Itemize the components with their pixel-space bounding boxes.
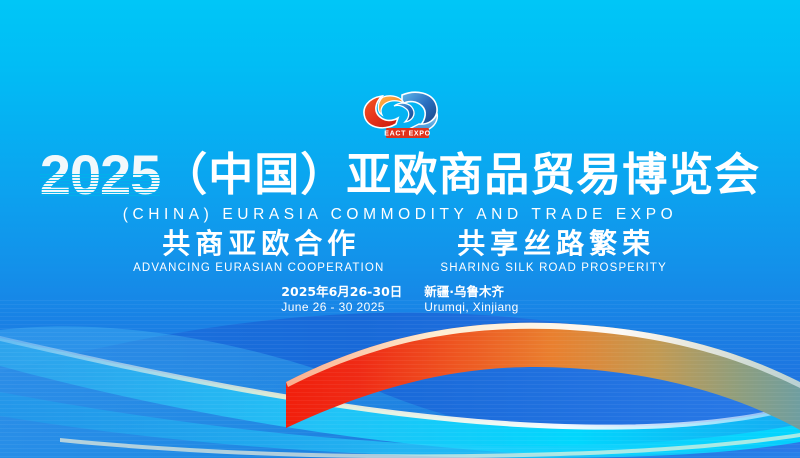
event-venue: 新疆·乌鲁木齐 Urumqi, Xinjiang — [424, 284, 518, 315]
scanline-texture — [0, 300, 800, 458]
event-venue-english: Urumqi, Xinjiang — [424, 300, 518, 315]
title-year: 2025 — [40, 148, 161, 202]
event-date: 2025年6月26-30日 June 26 - 30 2025 — [281, 284, 402, 315]
slogan-1-chinese: 共商亚欧合作 — [133, 228, 384, 260]
expo-banner: EACT EXPO 2025 （中国）亚欧商品贸易博览会 (CHINA) EUR… — [0, 0, 800, 458]
slogan-item-1: 共商亚欧合作 ADVANCING EURASIAN COOPERATION — [133, 228, 384, 274]
title-english: (CHINA) EURASIA COMMODITY AND TRADE EXPO — [0, 206, 800, 224]
slogan-group: 共商亚欧合作 ADVANCING EURASIAN COOPERATION 共享… — [0, 228, 800, 274]
title-block: 2025 （中国）亚欧商品贸易博览会 (CHINA) EURASIA COMMO… — [0, 148, 800, 224]
logo-wordmark-text: EACT EXPO — [384, 130, 430, 138]
event-venue-chinese: 新疆·乌鲁木齐 — [424, 284, 518, 300]
slogan-item-2: 共享丝路繁荣 SHARING SILK ROAD PROSPERITY — [440, 228, 666, 274]
eact-expo-logo: EACT EXPO — [356, 86, 444, 142]
event-meta: 2025年6月26-30日 June 26 - 30 2025 新疆·乌鲁木齐 … — [0, 284, 800, 315]
logo-mark: EACT EXPO — [356, 86, 444, 142]
title-main-row: 2025 （中国）亚欧商品贸易博览会 — [0, 148, 800, 202]
slogan-2-english: SHARING SILK ROAD PROSPERITY — [440, 262, 666, 274]
event-date-english: June 26 - 30 2025 — [281, 300, 402, 315]
title-year-wrap: 2025 — [40, 148, 161, 202]
title-chinese: （中国）亚欧商品贸易博览会 — [162, 148, 760, 202]
event-date-chinese: 2025年6月26-30日 — [281, 284, 402, 300]
slogan-1-english: ADVANCING EURASIAN COOPERATION — [133, 262, 384, 274]
slogan-2-chinese: 共享丝路繁荣 — [440, 228, 666, 260]
